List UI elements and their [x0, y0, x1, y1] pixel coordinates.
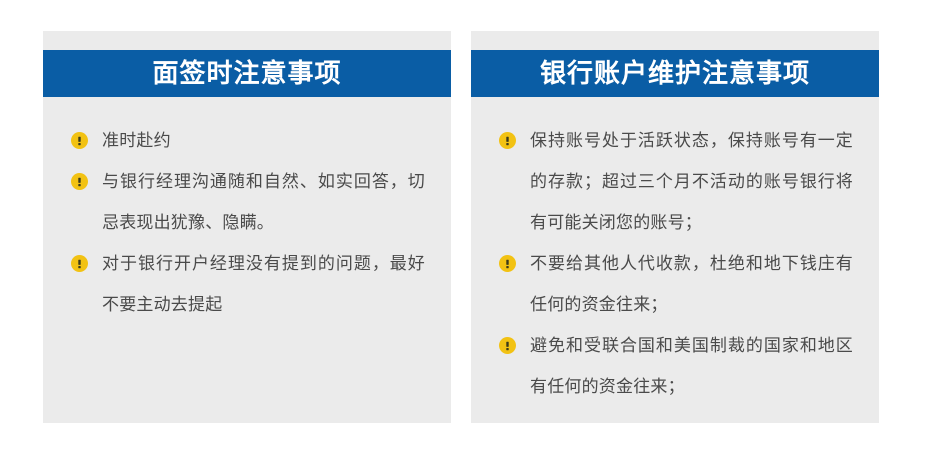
tips-board: 面签时注意事项 准时赴约 与银行经理沟: [0, 0, 930, 464]
list-item: 准时赴约: [59, 121, 425, 162]
warning-exclamation-icon: [71, 255, 88, 272]
panel-body-interview-tips: 准时赴约 与银行经理沟通随和自然、如实回答，切忌表现出犹豫、隐瞒。: [43, 97, 451, 326]
panel-interview-tips: 面签时注意事项 准时赴约 与银行经理沟: [43, 31, 451, 423]
list-item-text: 对于银行开户经理没有提到的问题，最好不要主动去提起: [102, 244, 425, 326]
panel-header-interview-tips: 面签时注意事项: [43, 50, 451, 97]
warning-exclamation-icon: [499, 132, 516, 149]
panel-title-interview-tips: 面签时注意事项: [152, 61, 341, 87]
warning-exclamation-icon: [499, 255, 516, 272]
list-item-text: 与银行经理沟通随和自然、如实回答，切忌表现出犹豫、隐瞒。: [102, 162, 425, 244]
panel-account-maintenance-tips: 银行账户维护注意事项 保持账号处于活跃状态，保持账号有一定的存款；超过三个月不活…: [471, 31, 879, 423]
warning-exclamation-icon: [499, 337, 516, 354]
warning-exclamation-icon: [71, 173, 88, 190]
panel-title-account-maintenance-tips: 银行账户维护注意事项: [540, 61, 810, 87]
list-item-text: 避免和受联合国和美国制裁的国家和地区有任何的资金往来；: [530, 326, 853, 408]
list-item: 保持账号处于活跃状态，保持账号有一定的存款；超过三个月不活动的账号银行将有可能关…: [487, 121, 853, 244]
warning-exclamation-icon: [71, 132, 88, 149]
list-item: 不要给其他人代收款，杜绝和地下钱庄有任何的资金往来；: [487, 244, 853, 326]
list-item: 避免和受联合国和美国制裁的国家和地区有任何的资金往来；: [487, 326, 853, 408]
list-item-text: 不要给其他人代收款，杜绝和地下钱庄有任何的资金往来；: [530, 244, 853, 326]
list-item: 对于银行开户经理没有提到的问题，最好不要主动去提起: [59, 244, 425, 326]
list-item-text: 保持账号处于活跃状态，保持账号有一定的存款；超过三个月不活动的账号银行将有可能关…: [530, 121, 853, 244]
panel-body-account-maintenance-tips: 保持账号处于活跃状态，保持账号有一定的存款；超过三个月不活动的账号银行将有可能关…: [471, 97, 879, 408]
list-item: 与银行经理沟通随和自然、如实回答，切忌表现出犹豫、隐瞒。: [59, 162, 425, 244]
list-item-text: 准时赴约: [102, 121, 425, 162]
panel-header-account-maintenance-tips: 银行账户维护注意事项: [471, 50, 879, 97]
